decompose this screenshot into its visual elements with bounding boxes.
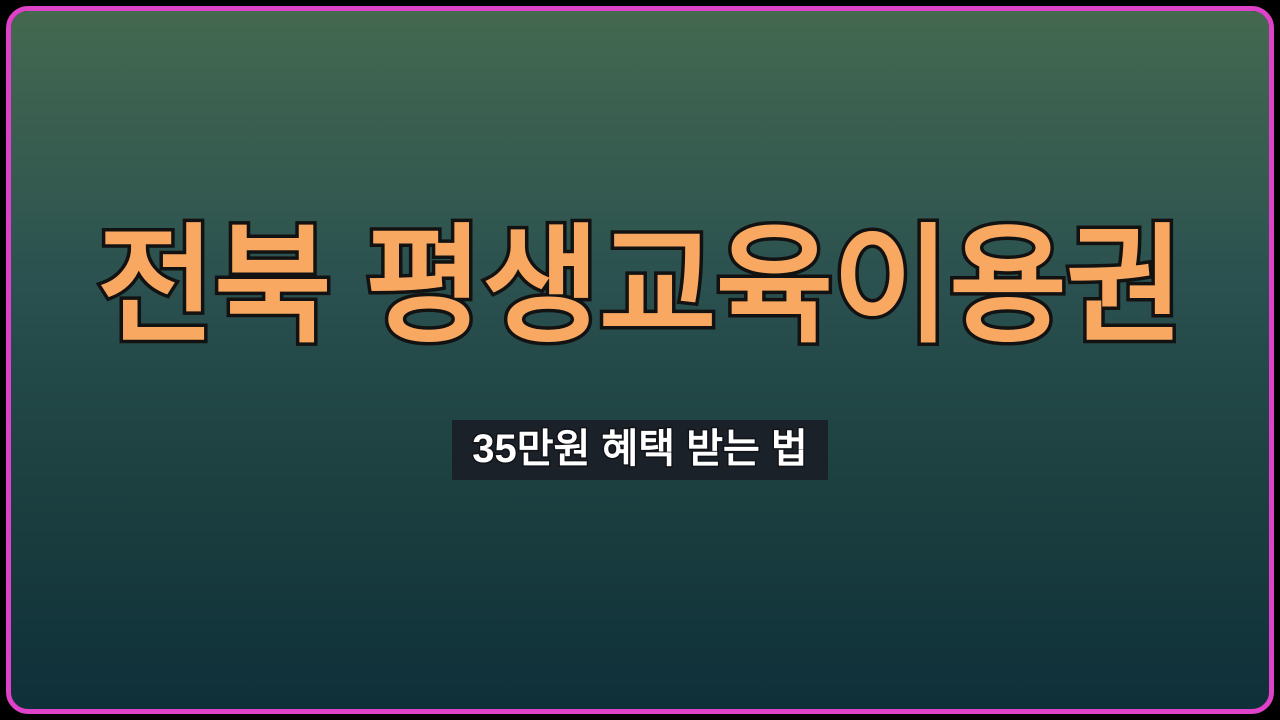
subtitle-text: 35만원 혜택 받는 법 [472, 427, 807, 471]
page-title: 전북 평생교육이용권 [0, 217, 1280, 357]
thumbnail-card: 전북 평생교육이용권 35만원 혜택 받는 법 [0, 0, 1280, 720]
subtitle-container: 35만원 혜택 받는 법 [0, 420, 1280, 480]
subtitle-badge: 35만원 혜택 받는 법 [452, 420, 827, 480]
card-content: 전북 평생교육이용권 35만원 혜택 받는 법 [0, 0, 1280, 720]
